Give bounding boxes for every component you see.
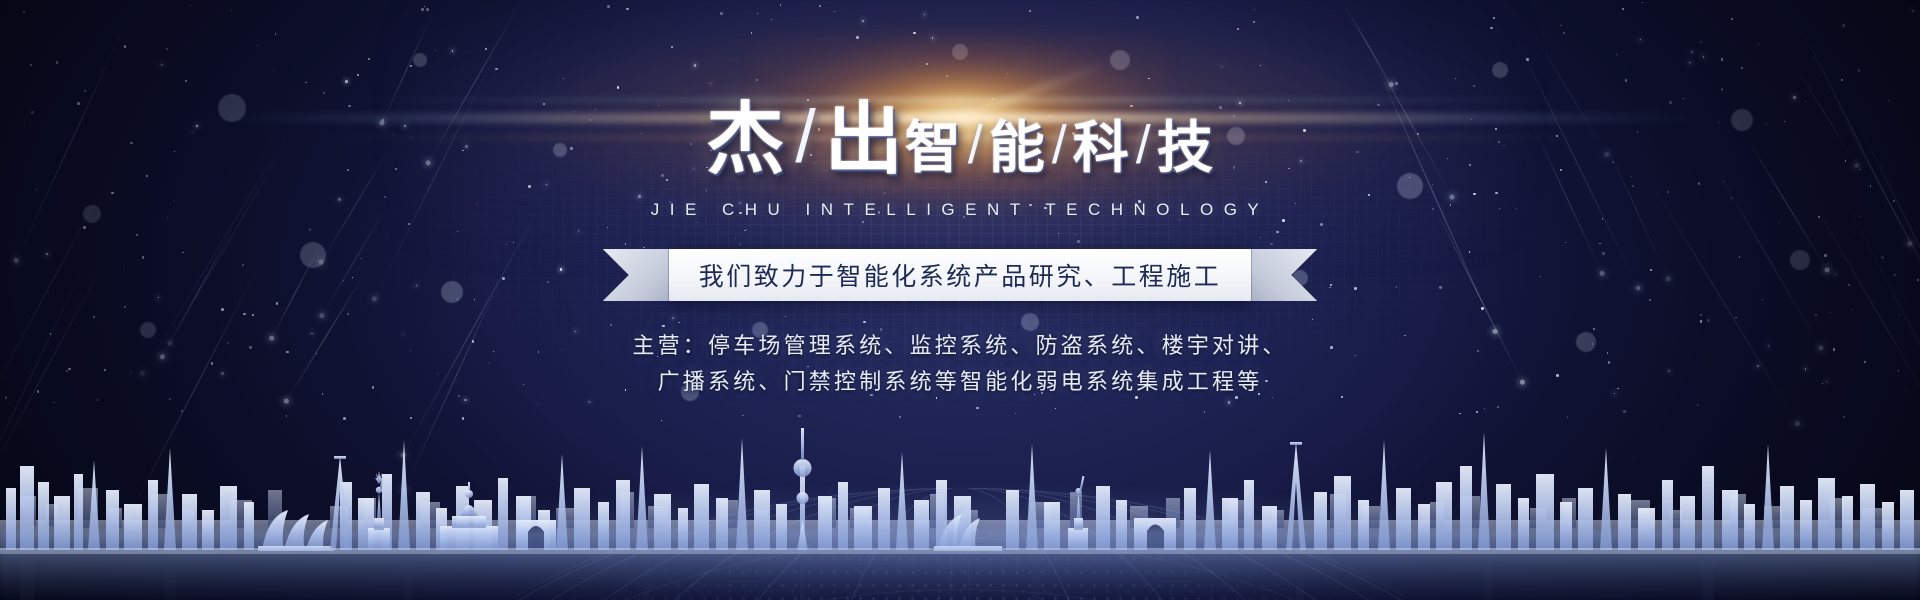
title-separator: / [1136, 118, 1151, 172]
ribbon-tail-left [603, 249, 669, 301]
title-char-9: 技 [1157, 120, 1214, 176]
hero-banner: 杰/出智/能/科/技 JIE CHU INTELLIGENT TECHNOLOG… [0, 0, 1920, 600]
ribbon-text: 我们致力于智能化系统产品研究、工程施工 [699, 257, 1222, 293]
title-separator: / [1052, 118, 1067, 172]
service-description: 主营：停车场管理系统、监控系统、防盗系统、楼宇对讲、 广播系统、门禁控制系统等智… [0, 328, 1920, 400]
english-subtitle: JIE CHU INTELLIGENT TECHNOLOGY [0, 200, 1920, 220]
ribbon-tail-right [1251, 249, 1317, 301]
ribbon-shape: 我们致力于智能化系统产品研究、工程施工 [603, 249, 1318, 301]
title-char-3: 智 [905, 120, 962, 176]
title-separator: / [968, 118, 983, 172]
tagline-ribbon: 我们致力于智能化系统产品研究、工程施工 [0, 247, 1920, 303]
service-line-1: 主营：停车场管理系统、监控系统、防盗系统、楼宇对讲、 [0, 328, 1920, 364]
title-char-2: 出 [825, 100, 905, 178]
service-line-2: 广播系统、门禁控制系统等智能化弱电系统集成工程等 [0, 364, 1920, 400]
title-separator: / [795, 100, 816, 174]
title-char-5: 能 [989, 120, 1046, 176]
main-title: 杰/出智/能/科/技 [0, 88, 1920, 178]
title-char-0: 杰 [706, 100, 786, 178]
title-char-7: 科 [1073, 120, 1130, 176]
ribbon-body: 我们致力于智能化系统产品研究、工程施工 [669, 249, 1252, 301]
